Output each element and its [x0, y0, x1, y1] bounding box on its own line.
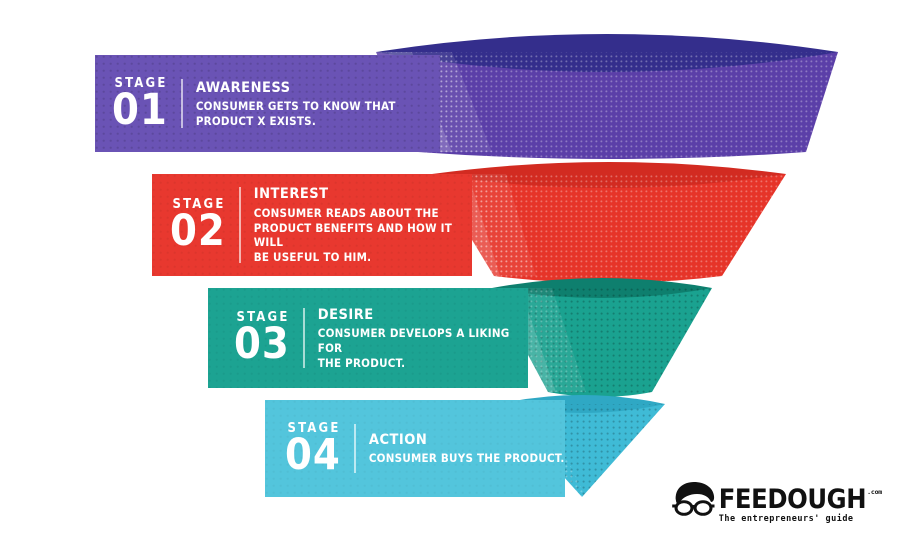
stage-01-text-block: AWARENESS CONSUMER GETS TO KNOW THAT PRO…	[183, 79, 396, 129]
stage-03-text-block: DESIRE CONSUMER DEVELOPS A LIKING FOR TH…	[305, 306, 528, 371]
stage-03-number-block: STAGE 03	[234, 311, 303, 365]
stage-01-description: CONSUMER GETS TO KNOW THAT PRODUCT X EXI…	[196, 99, 396, 128]
stage-bar-03[interactable]: STAGE 03 DESIRE CONSUMER DEVELOPS A LIKI…	[208, 288, 528, 388]
stage-bar-04[interactable]: STAGE 04 ACTION CONSUMER BUYS THE PRODUC…	[265, 400, 565, 497]
brand-logo[interactable]: FEEDOUGH .com The entrepreneurs' guide	[670, 481, 882, 524]
stage-02-title: INTEREST	[254, 185, 472, 204]
stage-02-text-block: INTEREST CONSUMER READS ABOUT THE PRODUC…	[241, 185, 472, 264]
stage-02-number-block: STAGE 02	[170, 198, 239, 252]
stage-04-description: CONSUMER BUYS THE PRODUCT.	[369, 451, 565, 466]
logo-type: FEEDOUGH .com The entrepreneurs' guide	[719, 481, 882, 524]
infographic-canvas: STAGE 01 AWARENESS CONSUMER GETS TO KNOW…	[0, 0, 900, 538]
stage-01-number: 01	[112, 91, 168, 131]
stage-02-number: 02	[170, 212, 226, 252]
stage-03-title: DESIRE	[318, 306, 528, 325]
logo-tagline: The entrepreneurs' guide	[719, 514, 882, 524]
stage-04-number-block: STAGE 04	[285, 422, 354, 476]
stage-01-title: AWARENESS	[196, 79, 396, 98]
face-with-glasses-icon	[670, 481, 716, 523]
stage-bar-02[interactable]: STAGE 02 INTEREST CONSUMER READS ABOUT T…	[152, 174, 472, 276]
stage-03-description: CONSUMER DEVELOPS A LIKING FOR THE PRODU…	[318, 326, 528, 370]
stage-01-number-block: STAGE 01	[112, 77, 181, 131]
stage-03-number: 03	[234, 325, 290, 365]
stage-bar-01[interactable]: STAGE 01 AWARENESS CONSUMER GETS TO KNOW…	[95, 55, 440, 152]
logo-tld: .com	[867, 489, 882, 496]
stage-04-text-block: ACTION CONSUMER BUYS THE PRODUCT.	[356, 431, 565, 466]
logo-wordmark: FEEDOUGH	[719, 487, 866, 513]
stage-02-description: CONSUMER READS ABOUT THE PRODUCT BENEFIT…	[254, 206, 472, 265]
stage-04-number: 04	[285, 436, 341, 476]
stage-04-title: ACTION	[369, 431, 565, 450]
